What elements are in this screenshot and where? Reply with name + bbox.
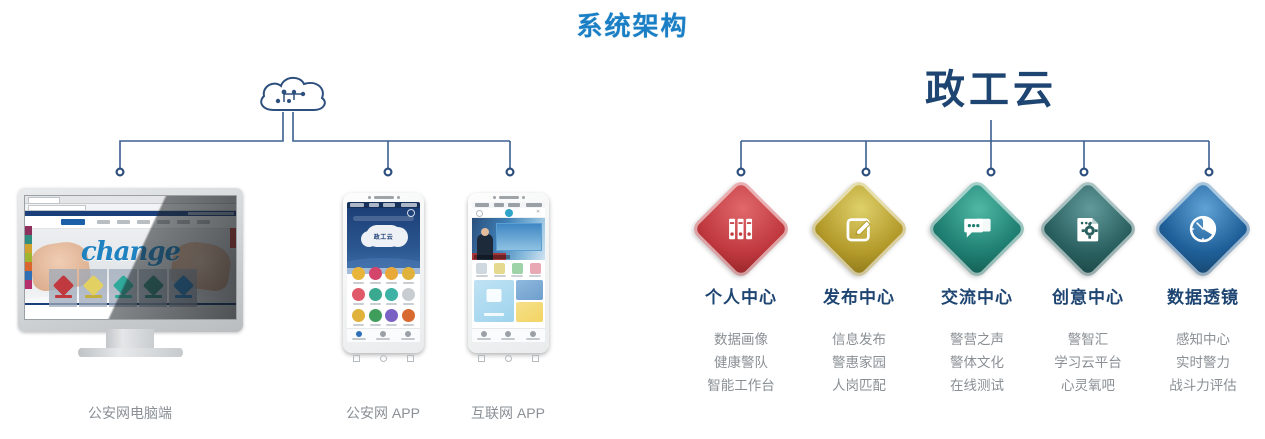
service-item[interactable]: 警体文化 — [918, 351, 1036, 374]
service-personal-center[interactable]: 个人中心 数据画像 健康警队 智能工作台 — [682, 185, 800, 397]
service-item-list: 警营之声 警体文化 在线测试 — [918, 328, 1036, 397]
service-item-list: 数据画像 健康警队 智能工作台 — [682, 328, 800, 397]
page-title: 系统架构 — [0, 6, 1265, 43]
service-item[interactable]: 警智汇 — [1029, 328, 1147, 351]
service-item[interactable]: 警惠家园 — [800, 351, 918, 374]
service-item-list: 感知中心 实时警力 战斗力评估 — [1144, 328, 1262, 397]
service-columns: 个人中心 数据画像 健康警队 智能工作台 发布中心 信息发布 — [672, 185, 1265, 439]
service-item[interactable]: 信息发布 — [800, 328, 918, 351]
service-title: 创意中心 — [1029, 283, 1147, 308]
service-item[interactable]: 在线测试 — [918, 374, 1036, 397]
device-caption-inet-app: 互联网 APP — [428, 403, 588, 423]
device-row: change — [0, 185, 632, 439]
service-title: 交流中心 — [918, 283, 1036, 308]
edit-pencil-icon — [808, 178, 910, 280]
pie-chart-icon — [1152, 178, 1254, 280]
document-gear-icon — [1037, 178, 1139, 280]
service-item-list: 警智汇 学习云平台 心灵氧吧 — [1029, 328, 1147, 397]
service-publish-center[interactable]: 发布中心 信息发布 警惠家园 人岗匹配 — [800, 185, 918, 397]
service-data-lens[interactable]: 数据透镜 感知中心 实时警力 战斗力评估 — [1144, 185, 1262, 397]
service-item[interactable]: 感知中心 — [1144, 328, 1262, 351]
smartphone-internet-app: ✕ — [468, 193, 549, 353]
service-creative-center[interactable]: 创意中心 警智汇 学习云平台 心灵氧吧 — [1029, 185, 1147, 397]
service-title: 个人中心 — [682, 283, 800, 308]
service-item[interactable]: 健康警队 — [682, 351, 800, 374]
chat-bubble-icon — [926, 178, 1028, 280]
desktop-monitor-icon: change — [18, 188, 243, 363]
service-item[interactable]: 人岗匹配 — [800, 374, 918, 397]
service-item[interactable]: 警营之声 — [918, 328, 1036, 351]
service-item[interactable]: 战斗力评估 — [1144, 374, 1262, 397]
platform-logo: 政工云 — [886, 60, 1096, 120]
service-item-list: 信息发布 警惠家园 人岗匹配 — [800, 328, 918, 397]
service-item[interactable]: 心灵氧吧 — [1029, 374, 1147, 397]
service-item[interactable]: 智能工作台 — [682, 374, 800, 397]
service-title: 发布中心 — [800, 283, 918, 308]
service-item[interactable]: 学习云平台 — [1029, 351, 1147, 374]
smartphone-gov-app: 政工云 — [343, 193, 424, 353]
service-item[interactable]: 数据画像 — [682, 328, 800, 351]
phone1-cloud-label: 政工云 — [374, 232, 394, 241]
service-item[interactable]: 实时警力 — [1144, 351, 1262, 374]
service-exchange-center[interactable]: 交流中心 警营之声 警体文化 在线测试 — [918, 185, 1036, 397]
service-title: 数据透镜 — [1144, 283, 1262, 308]
binders-icon — [690, 178, 792, 280]
device-caption-pc: 公安网电脑端 — [50, 403, 210, 423]
monitor-hero-word: change — [25, 237, 236, 267]
architecture-diagram: 系统架构 — [0, 0, 1265, 439]
cloud-network-icon — [254, 70, 334, 116]
